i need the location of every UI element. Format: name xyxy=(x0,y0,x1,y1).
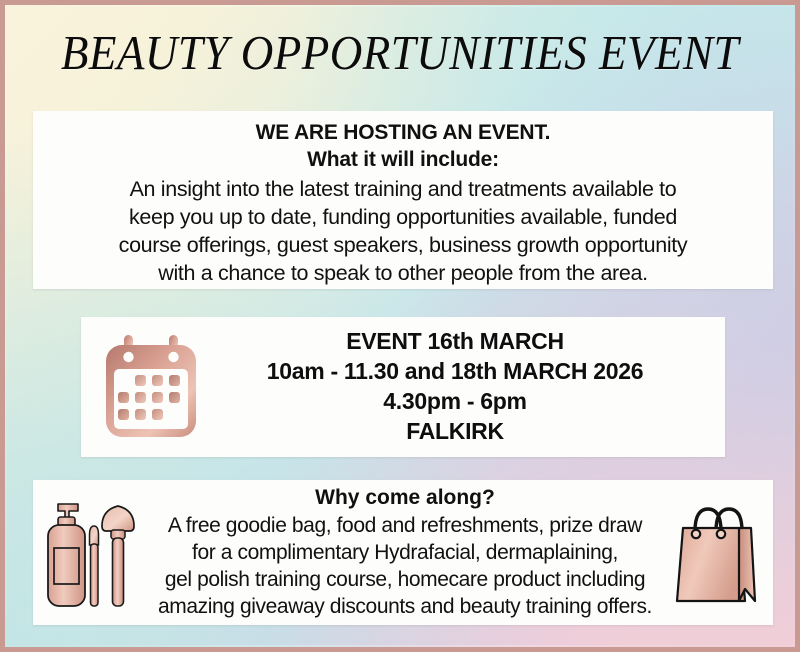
event-details-card: EVENT 16th MARCH 10am - 11.30 and 18th M… xyxy=(81,317,725,457)
beauty-products-icon xyxy=(39,492,143,614)
why-body-line-3: gel polish training course, homecare pro… xyxy=(147,567,663,594)
shopping-bag-icon xyxy=(667,499,767,607)
event-line-1: EVENT 16th MARCH xyxy=(207,327,703,357)
why-body-line-4: amazing giveaway discounts and beauty tr… xyxy=(147,594,663,621)
poster-title: BEAUTY OPPORTUNITIES EVENT xyxy=(37,27,764,78)
why-heading: Why come along? xyxy=(147,484,663,511)
why-body-line-1: A free goodie bag, food and refreshments… xyxy=(147,513,663,540)
event-poster: BEAUTY OPPORTUNITIES EVENT WE ARE HOSTIN… xyxy=(0,0,800,652)
intro-body-line-2: keep you up to date, funding opportuniti… xyxy=(47,204,759,232)
calendar-icon xyxy=(95,333,207,441)
why-body-line-2: for a complimentary Hydrafacial, dermapl… xyxy=(147,540,663,567)
event-line-3: 4.30pm - 6pm xyxy=(207,387,703,417)
event-line-4: FALKIRK xyxy=(207,417,703,447)
why-come-along-card: Why come along? A free goodie bag, food … xyxy=(33,480,773,625)
why-text-block: Why come along? A free goodie bag, food … xyxy=(143,484,667,620)
intro-heading-line-2: What it will include: xyxy=(47,147,759,174)
intro-card: WE ARE HOSTING AN EVENT. What it will in… xyxy=(33,111,773,289)
intro-body-line-1: An insight into the latest training and … xyxy=(47,176,759,204)
intro-body-line-3: course offerings, guest speakers, busine… xyxy=(47,232,759,260)
event-text-block: EVENT 16th MARCH 10am - 11.30 and 18th M… xyxy=(207,327,725,447)
intro-body-line-4: with a chance to speak to other people f… xyxy=(47,260,759,288)
intro-heading-line-1: WE ARE HOSTING AN EVENT. xyxy=(47,120,759,147)
event-line-2: 10am - 11.30 and 18th MARCH 2026 xyxy=(207,357,703,387)
